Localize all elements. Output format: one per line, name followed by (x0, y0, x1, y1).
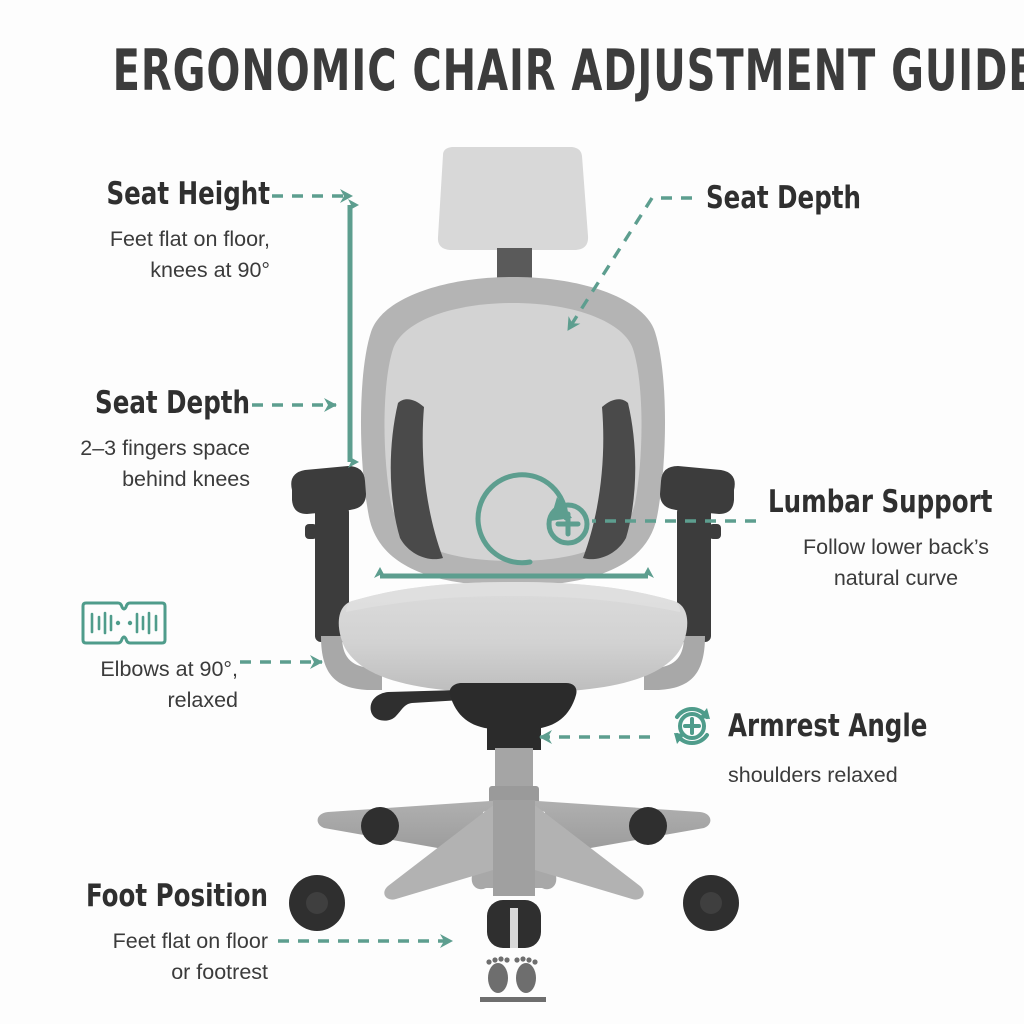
footprints-icon (486, 956, 537, 993)
seat-depth-left-desc-line1: 2–3 fingers space (20, 433, 250, 464)
lumbar-support-desc-line2: natural curve (768, 563, 1024, 594)
seat-cushion (339, 582, 688, 693)
annotation-seat-depth-right: Seat Depth (706, 180, 1006, 216)
lumbar-support-heading: Lumbar Support (768, 484, 993, 520)
seat-depth-right-heading: Seat Depth (706, 180, 970, 216)
rotate-plus-icon (666, 700, 718, 752)
elbows-desc-line1: Elbows at 90°, (10, 654, 238, 685)
seat-depth-left-desc-line2: behind knees (20, 464, 250, 495)
foot-position-heading: Foot Position (57, 878, 268, 914)
annotation-lumbar-support: Lumbar Support Follow lower back’s natur… (768, 484, 1024, 594)
mechanism-housing (450, 683, 577, 750)
annotation-seat-depth-left: Seat Depth 2–3 fingers space behind knee… (20, 385, 250, 495)
headrest (438, 147, 588, 250)
armrest-angle-heading: Armrest Angle (728, 708, 927, 744)
seat-height-desc-line2: knees at 90° (40, 255, 270, 286)
floor-line (480, 997, 546, 1002)
elbows-desc-line2: relaxed (10, 685, 238, 716)
lumbar-support-desc-line1: Follow lower back’s (768, 532, 1024, 563)
armrest-angle-desc-line1: shoulders relaxed (666, 760, 956, 791)
foot-position-desc-line1: Feet flat on floor (28, 926, 268, 957)
annotation-armrest-angle: Armrest Angle shoulders relaxed (666, 700, 956, 791)
seat-height-heading: Seat Height (68, 176, 270, 212)
open-book-measure-icon (78, 600, 170, 646)
infographic-page: ERGONOMIC CHAIR ADJUSTMENT GUIDE (0, 0, 1024, 1024)
annotation-foot-position: Foot Position Feet flat on floor or foot… (28, 878, 268, 988)
annotation-elbows: Elbows at 90°, relaxed (10, 600, 238, 716)
foot-position-desc-line2: or footrest (28, 957, 268, 988)
tilt-lever (371, 690, 462, 721)
annotation-seat-height: Seat Height Feet flat on floor, knees at… (40, 176, 270, 286)
seat-depth-left-heading: Seat Depth (48, 385, 250, 421)
seat-height-desc-line1: Feet flat on floor, (40, 224, 270, 255)
